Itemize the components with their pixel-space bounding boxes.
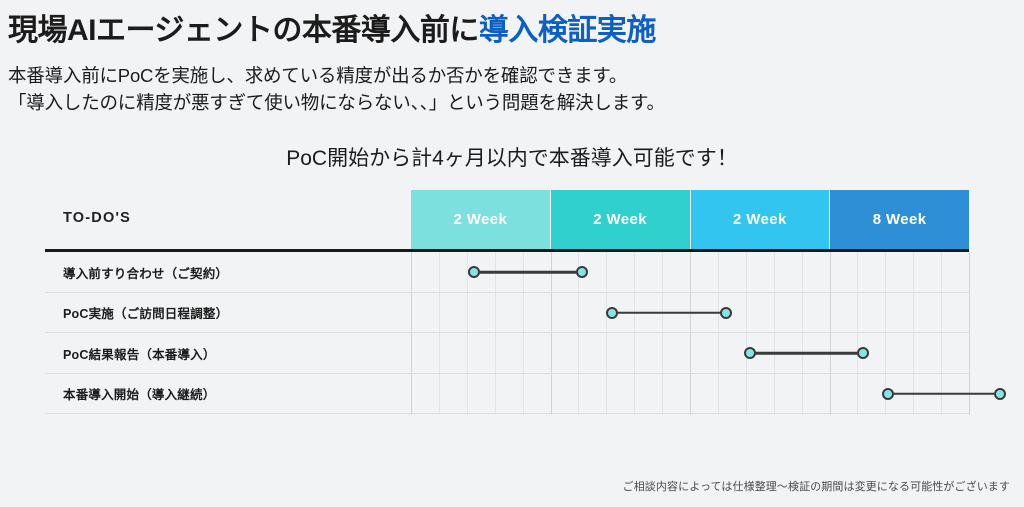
gantt-bar-end-marker-2 bbox=[720, 307, 732, 319]
gantt-phase-header-row: 2 Week 2 Week 2 Week 8 Week bbox=[411, 190, 969, 249]
gantt-row-3: PoC結果報告（本番導入） bbox=[45, 333, 969, 374]
gantt-phase-cell-1: 2 Week bbox=[411, 190, 551, 249]
gantt-bar-end-marker-1 bbox=[576, 266, 588, 278]
gantt-bar-start-marker-4 bbox=[882, 388, 894, 400]
gantt-bar-3 bbox=[744, 333, 868, 374]
gantt-phase-cell-2: 2 Week bbox=[551, 190, 691, 249]
page-subtitle-line-2: 「導入したのに精度が悪すぎて使い物にならない、、」という問題を解決します。 bbox=[8, 89, 665, 116]
gantt-header: TO-DO'S 2 Week 2 Week 2 Week 8 Week bbox=[45, 190, 969, 249]
lead-statement: PoC開始から計4ヶ月以内で本番導入可能です！ bbox=[0, 142, 1024, 172]
gantt-row-1: 導入前すり合わせ（ご契約） bbox=[45, 252, 969, 293]
gantt-phase-label-4: 8 Week bbox=[873, 211, 927, 228]
gantt-bar-end-marker-4 bbox=[994, 388, 1006, 400]
gantt-chart: TO-DO'S 2 Week 2 Week 2 Week 8 Week 導入前す… bbox=[45, 190, 969, 415]
gantt-bar-start-marker-3 bbox=[744, 347, 756, 359]
gantt-phase-label-2: 2 Week bbox=[593, 211, 647, 228]
page-subtitle: 本番導入前にPoCを実施し、求めている精度が出るか否かを確認できます。 「導入し… bbox=[8, 62, 665, 116]
gantt-phase-label-3: 2 Week bbox=[733, 211, 787, 228]
gantt-row-label-1: 導入前すり合わせ（ご契約） bbox=[63, 252, 228, 293]
gantt-body: 導入前すり合わせ（ご契約） PoC実施（ご訪問日程調整） PoC結果報告（本番導… bbox=[45, 252, 969, 415]
gantt-row-label-2: PoC実施（ご訪問日程調整） bbox=[63, 293, 228, 334]
gantt-bar-2 bbox=[606, 293, 732, 334]
gantt-bar-1 bbox=[468, 252, 588, 293]
page-title-accent: 導入検証実施 bbox=[479, 14, 656, 47]
gantt-phase-label-1: 2 Week bbox=[453, 211, 507, 228]
gantt-bar-start-marker-1 bbox=[468, 266, 480, 278]
page-subtitle-line-1: 本番導入前にPoCを実施し、求めている精度が出るか否かを確認できます。 bbox=[8, 62, 665, 89]
gantt-row-label-3: PoC結果報告（本番導入） bbox=[63, 333, 216, 374]
gantt-bar-line-1 bbox=[474, 271, 582, 274]
footnote: ご相談内容によっては仕様整理〜検証の期間は変更になる可能性がございます bbox=[623, 478, 1010, 494]
gantt-phase-cell-4: 8 Week bbox=[830, 190, 969, 249]
gantt-row-4: 本番導入開始（導入継続） bbox=[45, 374, 969, 415]
gantt-bar-start-marker-2 bbox=[606, 307, 618, 319]
gantt-phase-cell-3: 2 Week bbox=[691, 190, 831, 249]
gantt-row-2: PoC実施（ご訪問日程調整） bbox=[45, 293, 969, 334]
page-title-plain: 現場AIエージェントの本番導入前に bbox=[8, 14, 479, 47]
gantt-bar-line-4 bbox=[888, 393, 1000, 396]
gantt-bar-4 bbox=[882, 374, 1006, 415]
gantt-row-label-4: 本番導入開始（導入継続） bbox=[63, 374, 215, 415]
gantt-bar-end-marker-3 bbox=[857, 347, 869, 359]
gantt-bar-line-3 bbox=[750, 352, 862, 355]
todos-column-header: TO-DO'S bbox=[63, 210, 131, 226]
gantt-bar-line-2 bbox=[612, 312, 726, 315]
page-title: 現場AIエージェントの本番導入前に導入検証実施 bbox=[8, 10, 656, 52]
